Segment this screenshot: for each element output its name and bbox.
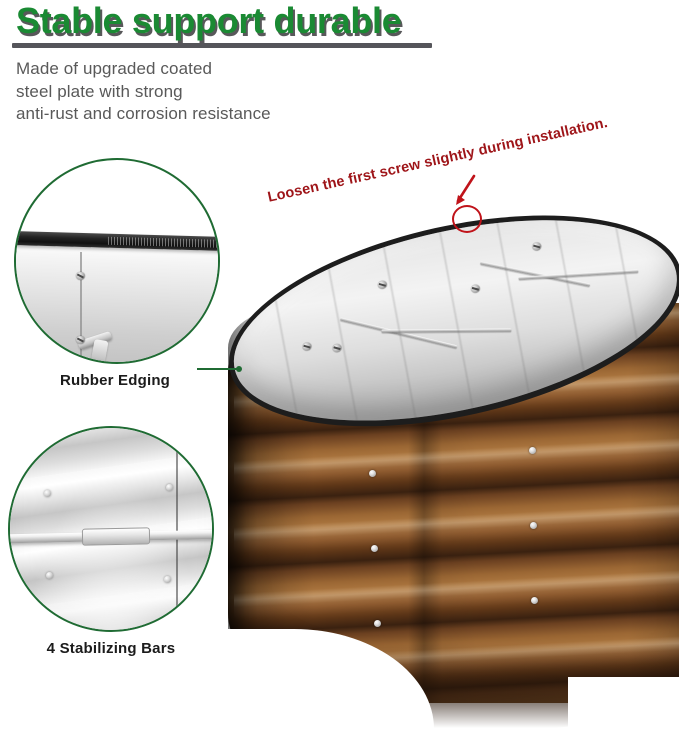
- bracket-bolt: [46, 572, 53, 579]
- callout-label-stabilizing-bars: 4 Stabilizing Bars: [0, 640, 226, 657]
- wall-screw: [531, 597, 538, 604]
- callout-screw: [76, 336, 85, 344]
- wall-screw: [529, 447, 536, 454]
- stabilizing-bar: [480, 261, 590, 286]
- stabilizing-bar: [381, 329, 511, 333]
- wall-screw: [371, 545, 378, 552]
- callout-screw: [76, 272, 85, 280]
- callout-label-rubber-edging: Rubber Edging: [0, 372, 230, 389]
- bracket-bolt: [166, 484, 173, 491]
- wall-screw: [369, 470, 376, 477]
- callout-connector-line: [197, 365, 243, 373]
- bracket-bolt: [44, 490, 51, 497]
- galvanized-sheet-surface: [14, 246, 220, 364]
- callout-circle-stabilizing-bars: [8, 426, 214, 632]
- title-underline-rule: [12, 43, 432, 48]
- callout-circle-rubber-edging: [14, 158, 220, 364]
- stabilizing-bar: [340, 318, 457, 349]
- stabilizing-bar: [518, 270, 638, 280]
- wall-screw: [530, 522, 537, 529]
- highlighted-screw-ring: [452, 205, 482, 233]
- raised-garden-bed-product: [228, 225, 679, 720]
- product-scene: Loosen the first screw slightly during i…: [0, 130, 679, 660]
- page-title: Stable support durable: [16, 2, 401, 41]
- subtitle-text: Made of upgraded coated steel plate with…: [16, 58, 271, 126]
- header-block: Stable support durable Made of upgraded …: [0, 0, 679, 135]
- stabilizing-bar-coupler: [82, 527, 150, 545]
- wall-screw: [374, 620, 381, 627]
- bracket-bolt: [164, 576, 171, 583]
